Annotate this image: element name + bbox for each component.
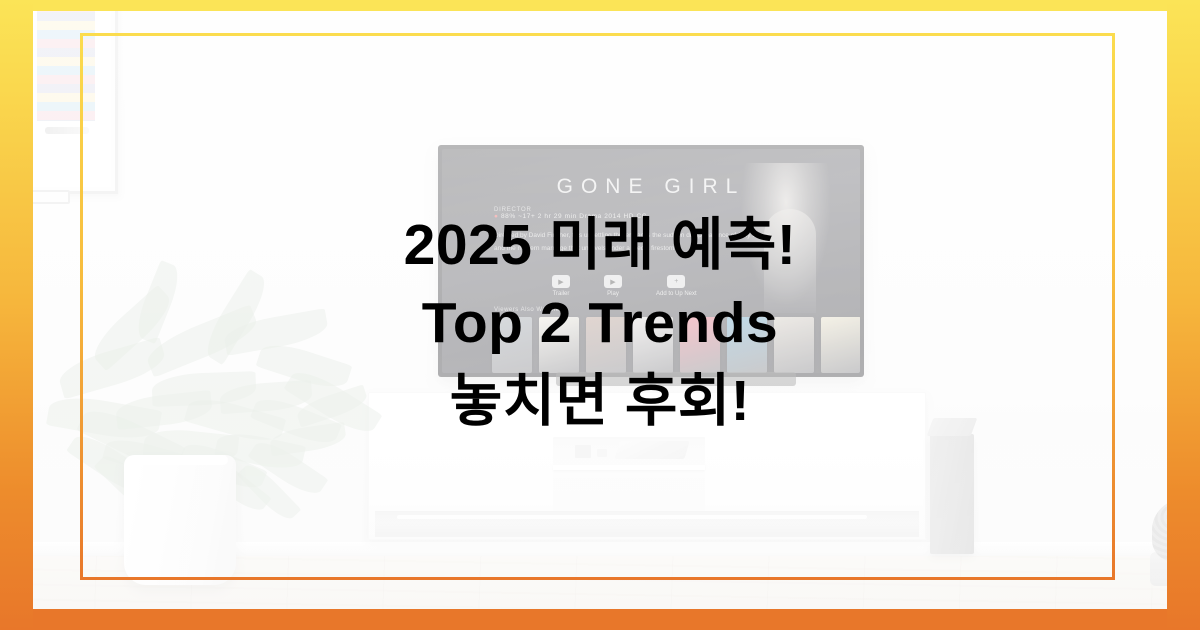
frame-border-bottom [0,609,1200,630]
headline-line-3: 놓치면 후회! [450,362,751,440]
headline-line-2: Top 2 Trends [422,284,779,362]
headline-block: 2025 미래 예측! Top 2 Trends 놓치면 후회! [0,206,1200,440]
promo-banner: GONE GIRL DIRECTOR ● 88% ~17+ 2 hr 29 mi… [0,0,1200,630]
frame-border-top [0,0,1200,11]
headline-line-1: 2025 미래 예측! [404,206,797,284]
